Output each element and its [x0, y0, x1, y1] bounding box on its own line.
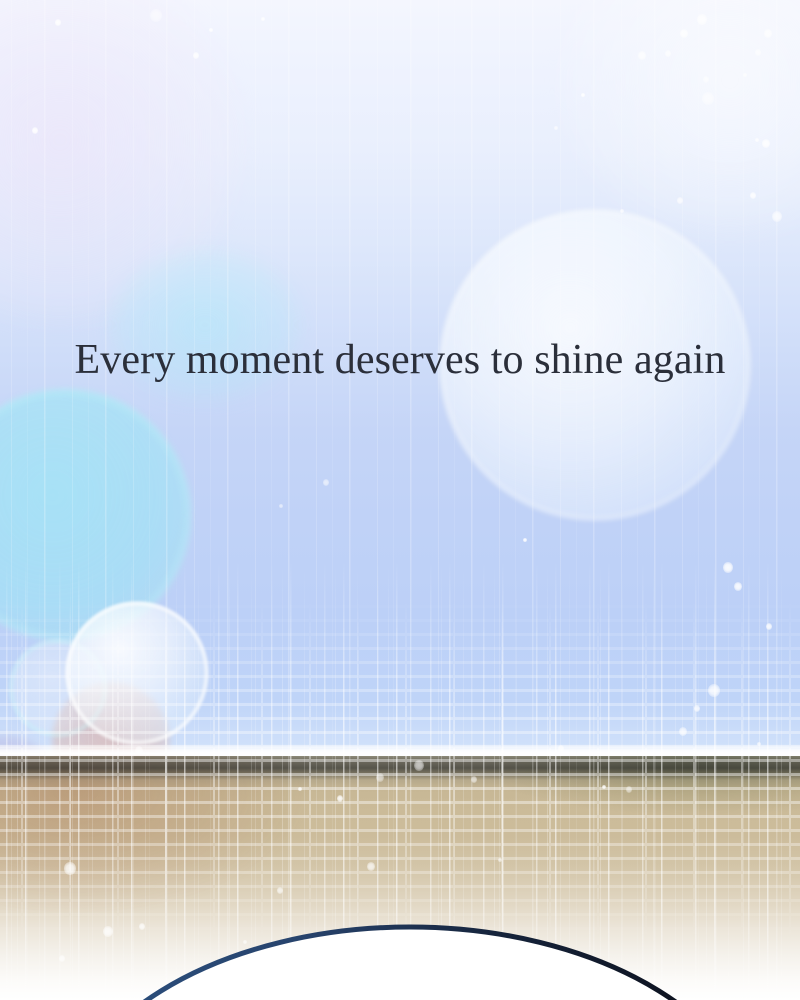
bottom-oval-svg: [0, 0, 800, 1000]
page-headline: Every moment deserves to shine again: [0, 338, 800, 382]
bottom-white-oval: [58, 927, 762, 1000]
poster-canvas: Every moment deserves to shine again: [0, 0, 800, 1000]
